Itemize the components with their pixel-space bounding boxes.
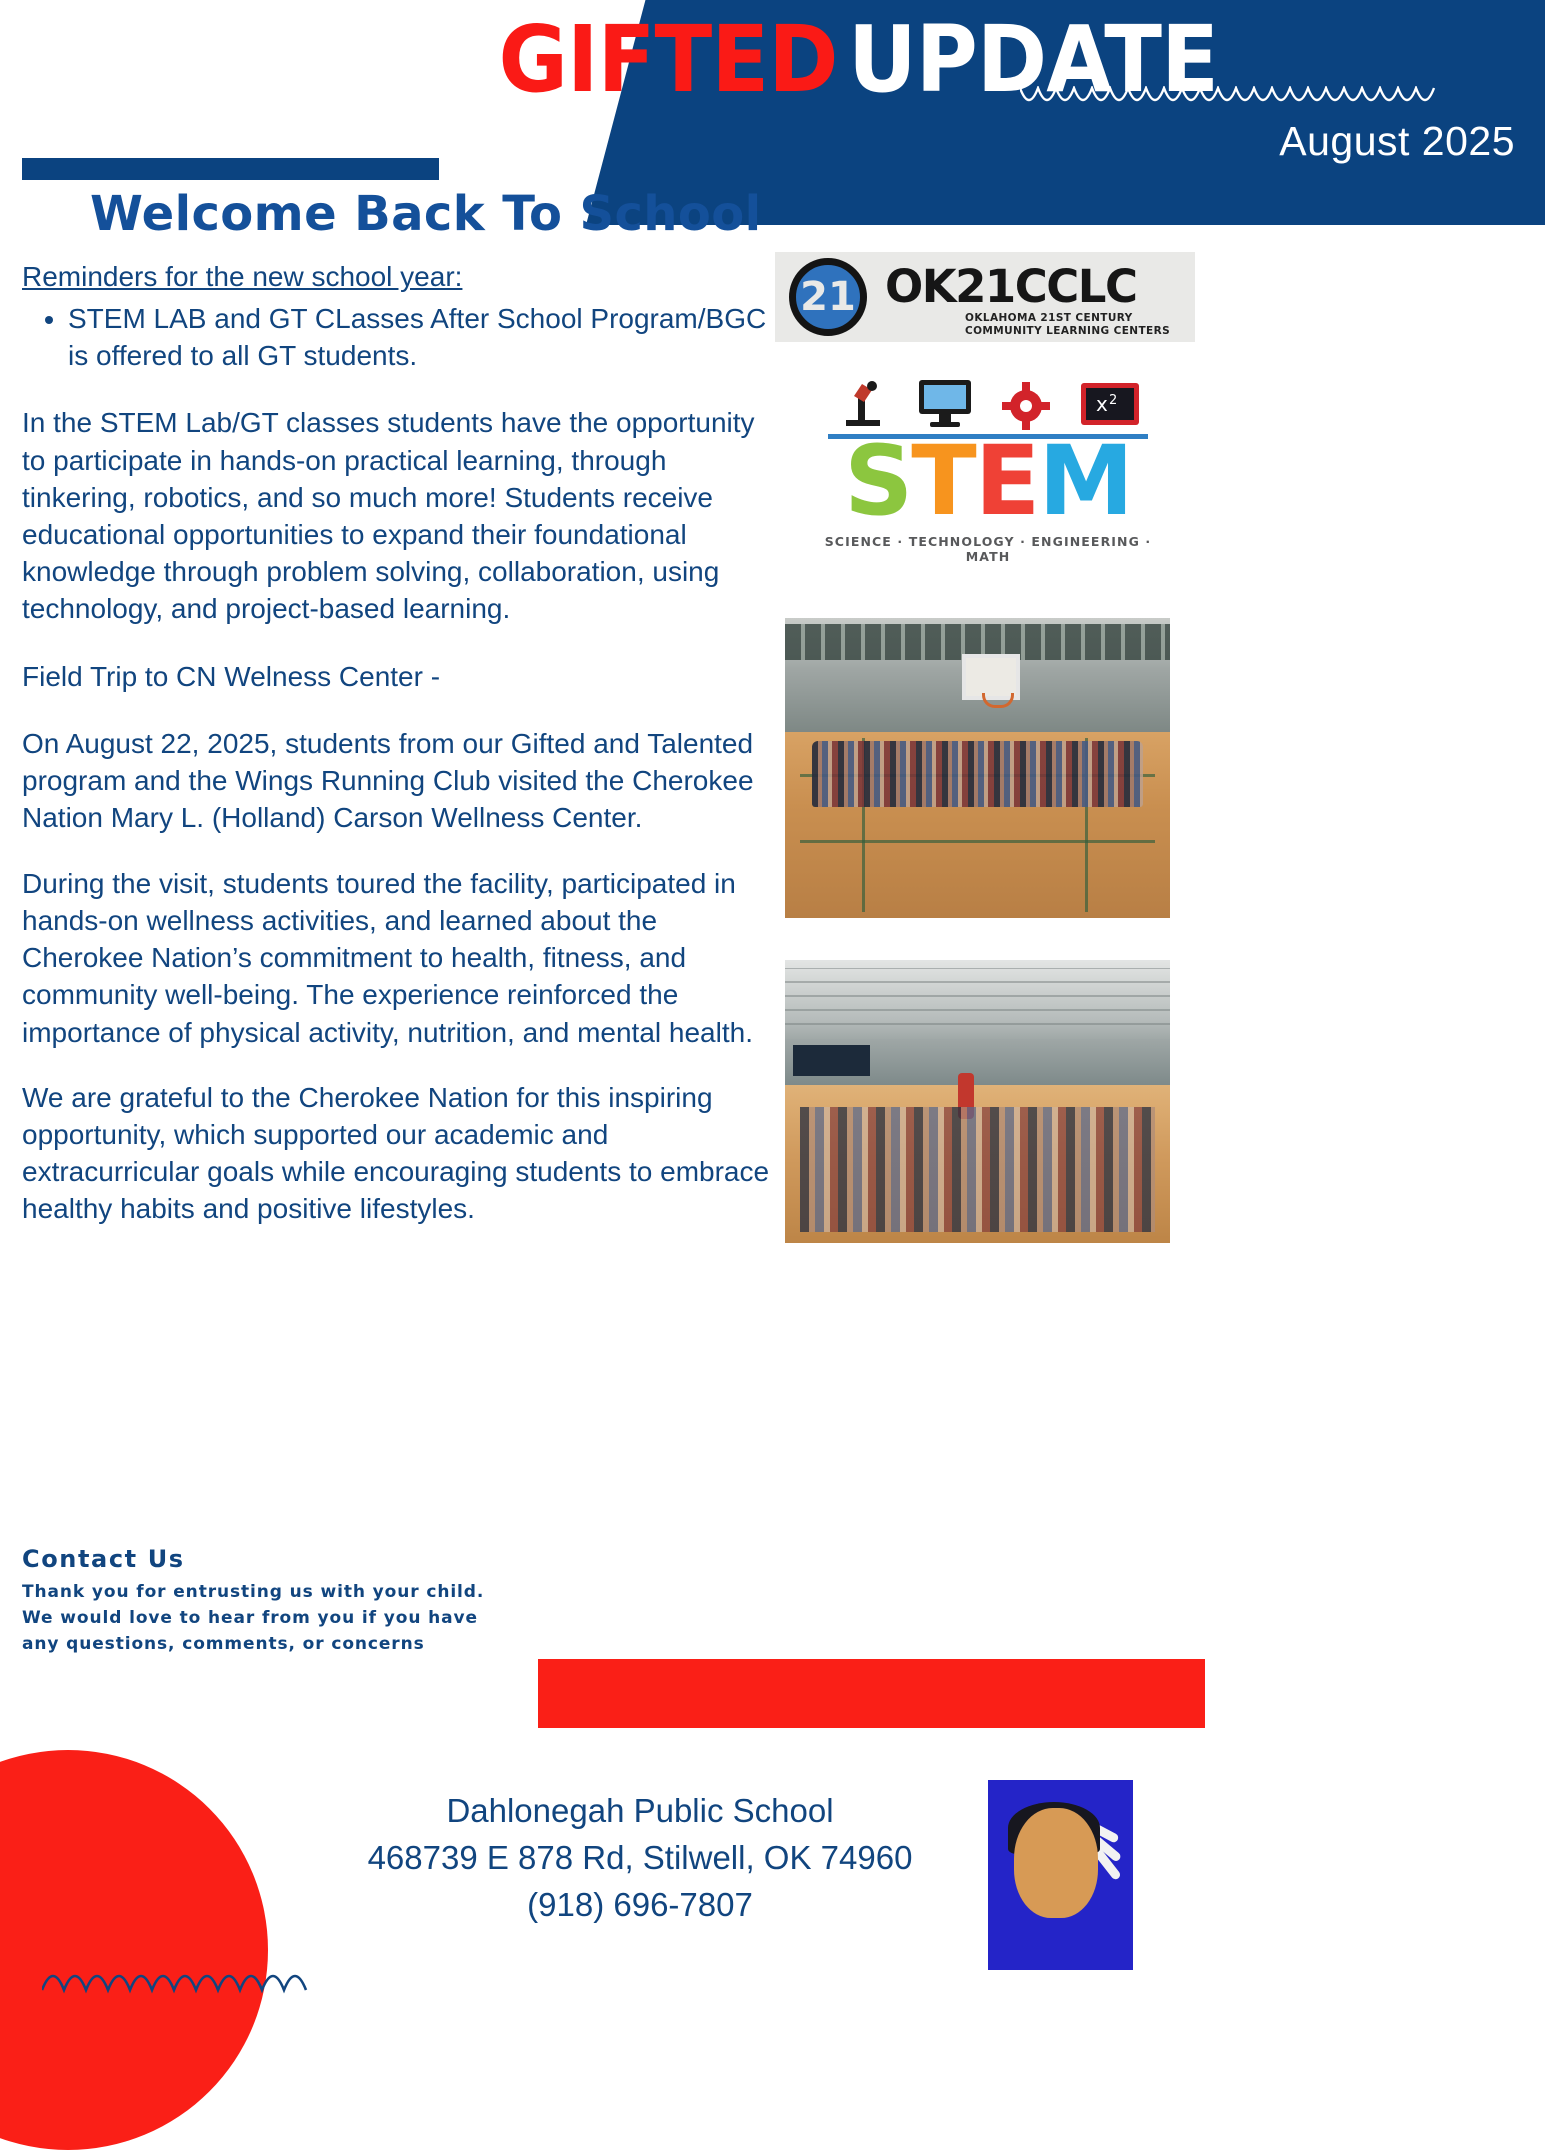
photo-gym-group — [785, 618, 1170, 918]
paragraph-trip-2: During the visit, students toured the fa… — [22, 865, 774, 1051]
red-corner-shape — [0, 1750, 268, 2150]
article-body: Reminders for the new school year: STEM … — [22, 258, 774, 1256]
stem-letter-e: E — [975, 436, 1039, 527]
footer-school-name: Dahlonegah Public School — [300, 1788, 980, 1835]
svg-text:x: x — [1096, 392, 1108, 416]
photo-gym-seated-group — [785, 960, 1170, 1243]
footer-address: 468739 E 878 Rd, Stilwell, OK 74960 — [300, 1835, 980, 1882]
contact-section: Contact Us Thank you for entrusting us w… — [22, 1545, 492, 1657]
svg-text:2: 2 — [1109, 393, 1117, 408]
field-trip-heading: Field Trip to CN Welness Center - — [22, 658, 774, 695]
reminders-heading: Reminders for the new school year: — [22, 258, 774, 296]
ok21-wordmark: OK21CCLC — [885, 264, 1137, 309]
stem-letters: S T E M — [822, 436, 1154, 528]
stem-letter-s: S — [844, 436, 911, 527]
basketball-hoop — [962, 654, 1020, 700]
masthead: GIFTED UPDATE — [0, 14, 1250, 134]
ok21cclc-logo: 21 OK21CCLC OKLAHOMA 21ST CENTURY COMMUN… — [775, 252, 1195, 342]
paragraph-trip-3: We are grateful to the Cherokee Nation f… — [22, 1079, 774, 1228]
paragraph-stem: In the STEM Lab/GT classes students have… — [22, 404, 774, 627]
list-item: STEM LAB and GT CLasses After School Pro… — [68, 300, 774, 374]
paragraph-trip-1: On August 22, 2025, students from our Gi… — [22, 725, 774, 837]
stem-icon-row: x 2 — [822, 372, 1154, 430]
footer-contact-info: Dahlonegah Public School 468739 E 878 Rd… — [300, 1788, 980, 1929]
stem-logo: x 2 S T E M SCIENCE · TECHNOLOGY · ENGIN… — [822, 372, 1154, 562]
microscope-icon — [836, 376, 890, 430]
ok21-subtitle-line1: OKLAHOMA 21ST CENTURY — [965, 312, 1133, 324]
wave-squiggle-icon — [1020, 86, 1450, 116]
ok21-subtitle-line2: COMMUNITY LEARNING CENTERS — [965, 325, 1170, 337]
gear-icon — [1000, 378, 1052, 430]
stem-letter-m: M — [1038, 436, 1132, 527]
bottom-wave-squiggle-icon — [42, 1960, 472, 1994]
seal-profile-face — [1014, 1808, 1098, 1918]
contact-heading: Contact Us — [22, 1545, 492, 1573]
red-accent-bar — [538, 1659, 1205, 1728]
ok21-badge-icon: 21 — [789, 258, 867, 336]
contact-text: Thank you for entrusting us with your ch… — [22, 1580, 492, 1657]
masthead-gifted-word: GIFTED — [499, 14, 838, 106]
monitor-icon — [917, 378, 973, 430]
chalkboard-icon: x 2 — [1079, 380, 1141, 430]
stem-tagline: SCIENCE · TECHNOLOGY · ENGINEERING · MAT… — [822, 534, 1154, 564]
title-accent-bar — [22, 158, 439, 180]
page-title: Welcome Back To School — [90, 186, 761, 242]
footer-phone: (918) 696-7807 — [300, 1882, 980, 1929]
stem-letter-t: T — [911, 436, 974, 527]
school-seal-logo — [988, 1780, 1133, 1970]
issue-date: August 2025 — [1279, 118, 1515, 165]
reminders-list: STEM LAB and GT CLasses After School Pro… — [22, 300, 774, 374]
